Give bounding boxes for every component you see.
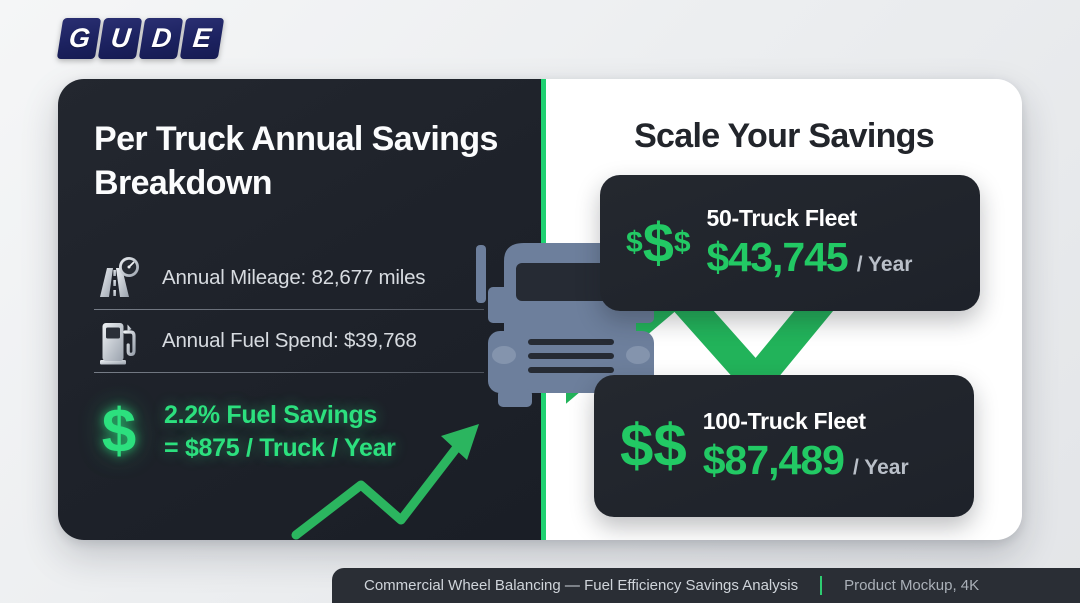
- caption-separator: [820, 576, 822, 595]
- road-speedometer-icon: [94, 256, 144, 300]
- fleet-name: 100-Truck Fleet: [703, 408, 909, 435]
- logo-letter: E: [192, 23, 213, 54]
- savings-highlight: $ 2.2% Fuel Savings = $875 / Truck / Yea…: [94, 399, 494, 465]
- fleet-amount: $87,489 / Year: [703, 437, 909, 484]
- triple-dollar-icon: $$$: [626, 215, 691, 271]
- stats-list: Annual Mileage: 82,677 miles: [94, 247, 494, 465]
- logo-tile-u: U: [98, 18, 142, 59]
- caption-title: Commercial Wheel Balancing — Fuel Effici…: [364, 577, 798, 594]
- stat-divider: [94, 372, 484, 373]
- fleet-card-50[interactable]: $$$ 50-Truck Fleet $43,745 / Year: [600, 175, 980, 311]
- fleet-period: / Year: [853, 456, 909, 480]
- left-panel: Per Truck Annual Savings Breakdown: [58, 79, 541, 540]
- right-panel-title: Scale Your Savings: [546, 117, 1022, 156]
- infographic-card: Per Truck Annual Savings Breakdown: [58, 79, 1022, 540]
- right-panel: Scale Your Savings $$$ 50-Truck Fleet $4…: [546, 79, 1022, 540]
- stat-row-mileage: Annual Mileage: 82,677 miles: [94, 247, 494, 309]
- logo-letter: U: [109, 23, 131, 54]
- fleet-period: / Year: [857, 253, 913, 277]
- savings-amount: = $875 / Truck / Year: [164, 432, 396, 465]
- double-dollar-icon: $$: [620, 416, 687, 476]
- stat-label: Annual Mileage: 82,677 miles: [162, 266, 425, 290]
- caption-subtitle: Product Mockup, 4K: [844, 577, 979, 594]
- logo-letter: G: [67, 23, 91, 54]
- fleet-amount: $43,745 / Year: [707, 234, 913, 281]
- caption-bar: Commercial Wheel Balancing — Fuel Effici…: [332, 568, 1080, 603]
- fleet-name: 50-Truck Fleet: [707, 205, 913, 232]
- stat-row-fuel: Annual Fuel Spend: $39,768: [94, 310, 494, 372]
- fleet-value: $87,489: [703, 437, 844, 484]
- logo-letter: D: [150, 23, 172, 54]
- fleet-card-100[interactable]: $$ 100-Truck Fleet $87,489 / Year: [594, 375, 974, 517]
- fleet-value: $43,745: [707, 234, 848, 281]
- stat-label: Annual Fuel Spend: $39,768: [162, 329, 417, 353]
- dollar-sign-icon: $: [94, 404, 144, 460]
- logo-tile-d: D: [139, 18, 183, 59]
- savings-percent: 2.2% Fuel Savings: [164, 399, 396, 432]
- left-panel-title: Per Truck Annual Savings Breakdown: [94, 117, 514, 205]
- logo-tile-e: E: [180, 18, 224, 59]
- fuel-pump-icon: [94, 316, 144, 366]
- brand-logo: G U D E: [60, 18, 221, 59]
- logo-tile-g: G: [57, 18, 101, 59]
